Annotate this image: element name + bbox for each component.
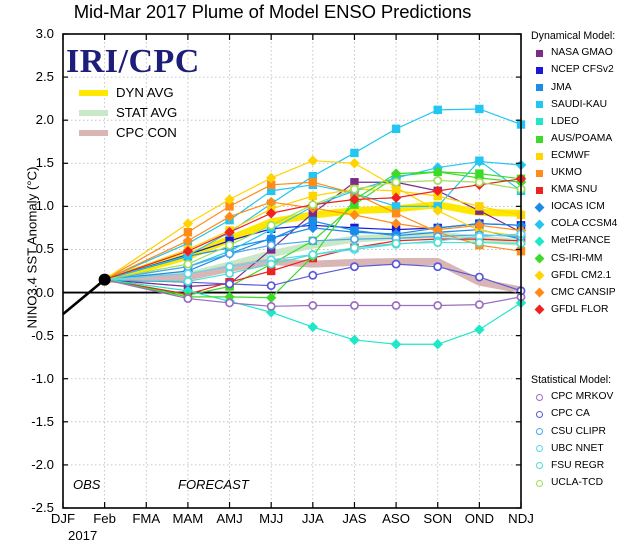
y-axis-tick-label: 0.0 [10,285,54,300]
data-point [475,105,483,113]
average-legend-row: DYN AVG [79,83,177,103]
forecast-region-label: FORECAST [178,477,249,492]
legend-item-nasa-gmao[interactable]: NASA GMAO [531,45,617,62]
legend-item-label: CPC MRKOV [551,392,613,402]
circle-marker-icon [531,428,547,435]
legend-item-label: NCEP CFSv2 [551,65,614,75]
square-marker-icon [531,170,547,177]
data-point [391,339,401,349]
legend-item-ecmwf[interactable]: ECMWF [531,148,617,165]
data-point [434,302,441,309]
legend-item-label: CPC CA [551,409,590,419]
data-point [184,228,192,236]
y-axis-tick-label: -0.5 [10,328,54,343]
diamond-marker-icon [531,238,547,245]
legend-item-label: UCLA-TCD [551,478,603,488]
data-point [434,106,442,114]
legend-item-ucla-tcd[interactable]: UCLA-TCD [531,474,613,491]
data-point [392,209,400,217]
legend-item-metfrance[interactable]: MetFRANCE [531,233,617,250]
legend-item-gfdl-flor[interactable]: GFDL FLOR [531,301,617,318]
legend-item-label: GFDL FLOR [551,305,608,315]
y-axis-tick-label: 0.5 [10,241,54,256]
square-marker-icon [531,118,547,125]
legend-item-cpc-ca[interactable]: CPC CA [531,406,613,423]
legend-item-ncep-cfsv2[interactable]: NCEP CFSv2 [531,62,617,79]
y-axis-tick-label: 3.0 [10,26,54,41]
legend-item-cs-iri-mm[interactable]: CS-IRI-MM [531,250,617,267]
legend-item-label: GFDL CM2.1 [551,271,611,281]
legend-item-label: IOCAS ICM [551,202,605,212]
legend-item-label: MetFRANCE [551,236,611,246]
average-legend-swatch [79,110,108,116]
data-point [392,125,400,133]
average-legend-label: DYN AVG [116,86,174,99]
legend-item-kma-snu[interactable]: KMA SNU [531,182,617,199]
model-series [105,280,527,350]
legend-item-fsu-regr[interactable]: FSU REGR [531,457,613,474]
circle-marker-icon [531,480,547,487]
legend-item-cmc-cansip[interactable]: CMC CANSIP [531,284,617,301]
data-point [308,322,318,332]
y-axis-tick-label: 2.0 [10,112,54,127]
iri-cpc-logo: IRI/CPC [66,45,200,79]
diamond-marker-icon [531,289,547,296]
average-legend-label: CPC CON [116,126,177,139]
enso-plume-chart: Mid-Mar 2017 Plume of Model ENSO Predict… [0,0,643,546]
legend-item-jma[interactable]: JMA [531,79,617,96]
statistical-model-legend: Statistical Model: CPC MRKOVCPC CACSU CL… [531,374,613,492]
data-point [309,237,316,244]
circle-marker-icon [531,445,547,452]
y-axis-tick-label: -1.5 [10,414,54,429]
diamond-marker-icon [531,204,547,211]
square-marker-icon [531,153,547,160]
data-point [226,270,233,277]
data-point [351,244,358,251]
data-point [476,239,483,246]
page-title: Mid-Mar 2017 Plume of Model ENSO Predict… [0,1,545,23]
data-point [184,270,191,277]
data-point [433,339,443,349]
data-point [351,236,358,243]
legend-item-label: ECMWF [551,151,590,161]
data-point [268,282,275,289]
obs-region-label: OBS [73,477,100,492]
average-lines-legend: DYN AVGSTAT AVGCPC CON [79,83,177,143]
legend-item-label: KMA SNU [551,185,597,195]
y-axis-tick-label: 1.5 [10,155,54,170]
data-point [309,201,316,208]
data-point [434,263,441,270]
square-marker-icon [531,67,547,74]
square-marker-icon [531,101,547,108]
legend-item-csu-clipr[interactable]: CSU CLIPR [531,423,613,440]
data-point [392,302,399,309]
data-point [434,177,441,184]
data-point [476,301,483,308]
legend-item-ubc-nnet[interactable]: UBC NNET [531,440,613,457]
data-point [349,335,359,345]
average-legend-row: STAT AVG [79,103,177,123]
legend-item-cpc-mrkov[interactable]: CPC MRKOV [531,389,613,406]
model-series [105,280,525,310]
average-legend-swatch [79,90,108,96]
y-axis-tick-label: 1.0 [10,198,54,213]
legend-item-label: AUS/POAMA [551,134,612,144]
data-point [226,250,233,257]
data-point [351,302,358,309]
square-marker-icon [531,136,547,143]
data-point [434,239,441,246]
data-point [309,178,317,186]
data-point [392,179,399,186]
data-point [392,240,399,247]
square-marker-icon [531,50,547,57]
legend-item-label: JMA [551,83,572,93]
data-point [476,179,483,186]
legend-item-ukmo[interactable]: UKMO [531,165,617,182]
data-point [184,261,191,268]
legend-item-label: LDEO [551,117,579,127]
data-point [184,295,191,302]
square-marker-icon [531,187,547,194]
legend-item-label: CMC CANSIP [551,288,616,298]
data-point [476,273,483,280]
data-point [226,242,233,249]
data-point [350,149,358,157]
data-point [474,324,484,334]
data-point [351,186,358,193]
legend-item-aus-poama[interactable]: AUS/POAMA [531,130,617,147]
data-point [309,272,316,279]
legend-item-label: UKMO [551,168,582,178]
average-legend-row: CPC CON [79,123,177,143]
x-axis-year-label: 2017 [68,528,97,543]
legend-item-saudi-kau[interactable]: SAUDI-KAU [531,96,617,113]
observation-point [99,274,111,286]
data-point [268,303,275,310]
legend-item-gfdl-cm2-1[interactable]: GFDL CM2.1 [531,267,617,284]
data-point [226,280,233,287]
legend-item-cola-ccsm4[interactable]: COLA CCSM4 [531,216,617,233]
diamond-marker-icon [531,221,547,228]
data-point [309,302,316,309]
legend-item-label: SAUDI-KAU [551,100,607,110]
data-point [268,242,275,249]
legend-item-label: COLA CCSM4 [551,219,617,229]
circle-marker-icon [531,462,547,469]
legend-item-iocas-icm[interactable]: IOCAS ICM [531,199,617,216]
circle-marker-icon [531,394,547,401]
legend-item-ldeo[interactable]: LDEO [531,113,617,130]
diamond-marker-icon [531,255,547,262]
diamond-marker-icon [531,306,547,313]
average-legend-label: STAT AVG [116,106,177,119]
legend-item-label: CS-IRI-MM [551,254,602,264]
legend-item-label: FSU REGR [551,461,604,471]
legend-item-label: NASA GMAO [551,48,613,58]
circle-marker-icon [531,411,547,418]
diamond-marker-icon [531,272,547,279]
data-point [309,251,316,258]
data-point [183,218,193,228]
square-marker-icon [531,84,547,91]
data-point [351,263,358,270]
data-point [308,155,318,165]
legend-item-label: UBC NNET [551,444,604,454]
data-point [226,299,233,306]
data-point [268,222,275,229]
data-point [349,158,359,168]
dynamical-model-legend: Dynamical Model: NASA GMAONCEP CFSv2JMAS… [531,30,617,319]
statistical-legend-header: Statistical Model: [531,374,613,386]
data-point [392,261,399,268]
legend-item-label: CSU CLIPR [551,427,606,437]
dynamical-legend-header: Dynamical Model: [531,30,617,42]
average-legend-swatch [79,130,108,136]
data-point [184,278,191,285]
data-point [475,202,483,210]
y-axis-tick-label: -1.0 [10,371,54,386]
y-axis-tick-label: -2.0 [10,457,54,472]
x-axis-tick-label: NDJ [494,511,548,526]
data-point [268,261,275,268]
y-axis-tick-label: 2.5 [10,69,54,84]
data-point [309,192,317,200]
observation-series [63,274,111,314]
